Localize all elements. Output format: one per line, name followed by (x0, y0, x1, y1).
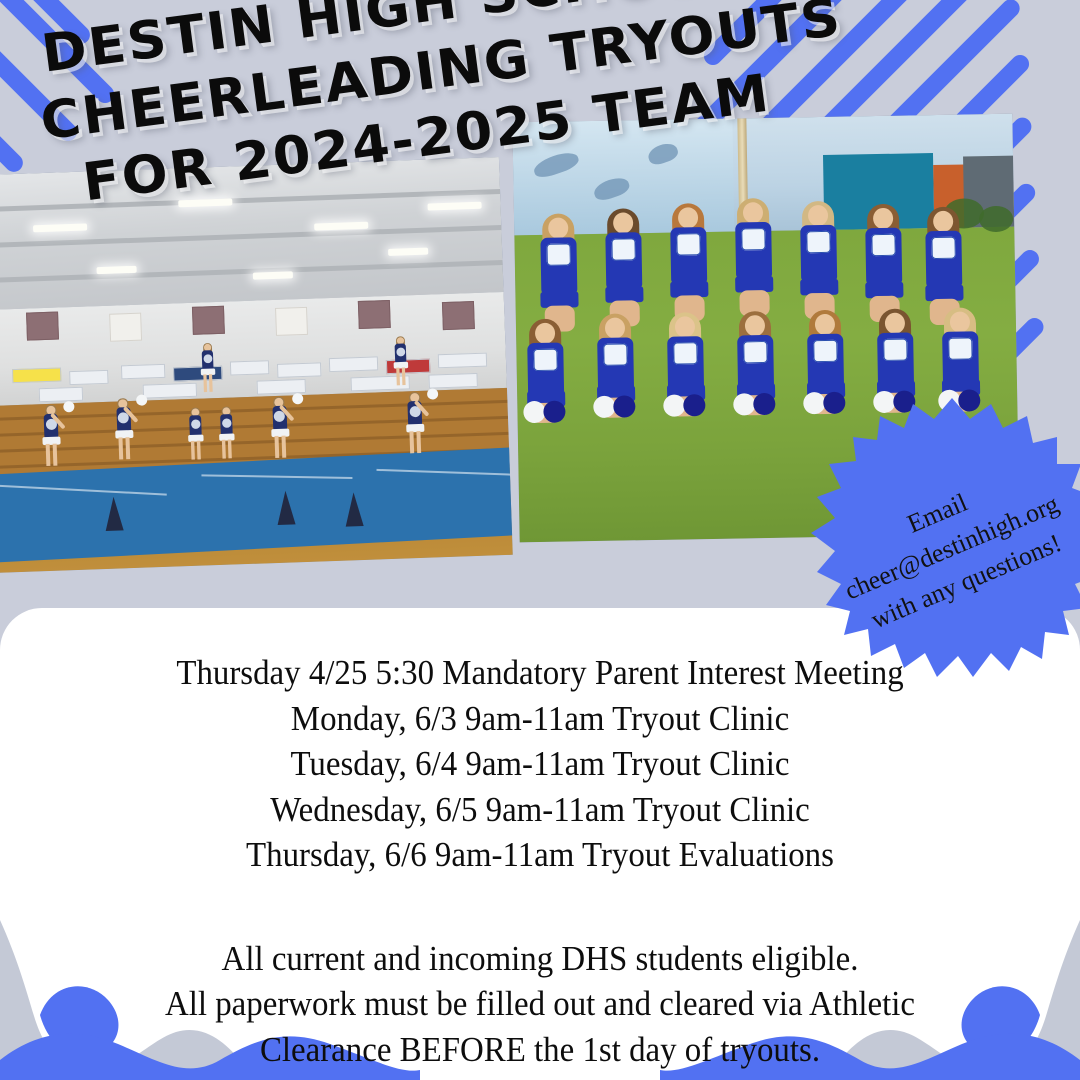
email-contact-badge: Email cheer@destinhigh.org with any ques… (802, 398, 1080, 698)
schedule-item: Wednesday, 6/5 9am-11am Tryout Clinic (32, 787, 1047, 833)
eligibility-line: All paperwork must be filled out and cle… (32, 981, 1047, 1027)
flyer-canvas: DESTIN HIGH SCHOOL CHEERLEADING TRYOUTS … (0, 0, 1080, 1080)
schedule-item: Monday, 6/3 9am-11am Tryout Clinic (32, 696, 1047, 742)
eligibility-requirements: All current and incoming DHS students el… (0, 936, 1080, 1073)
eligibility-line: Clearance BEFORE the 1st day of tryouts. (32, 1027, 1047, 1073)
eligibility-line: All current and incoming DHS students el… (32, 936, 1047, 982)
gym-cheer-photo (0, 157, 513, 573)
schedule-item: Thursday, 6/6 9am-11am Tryout Evaluation… (32, 832, 1047, 878)
schedule-item: Tuesday, 6/4 9am-11am Tryout Clinic (32, 741, 1047, 787)
